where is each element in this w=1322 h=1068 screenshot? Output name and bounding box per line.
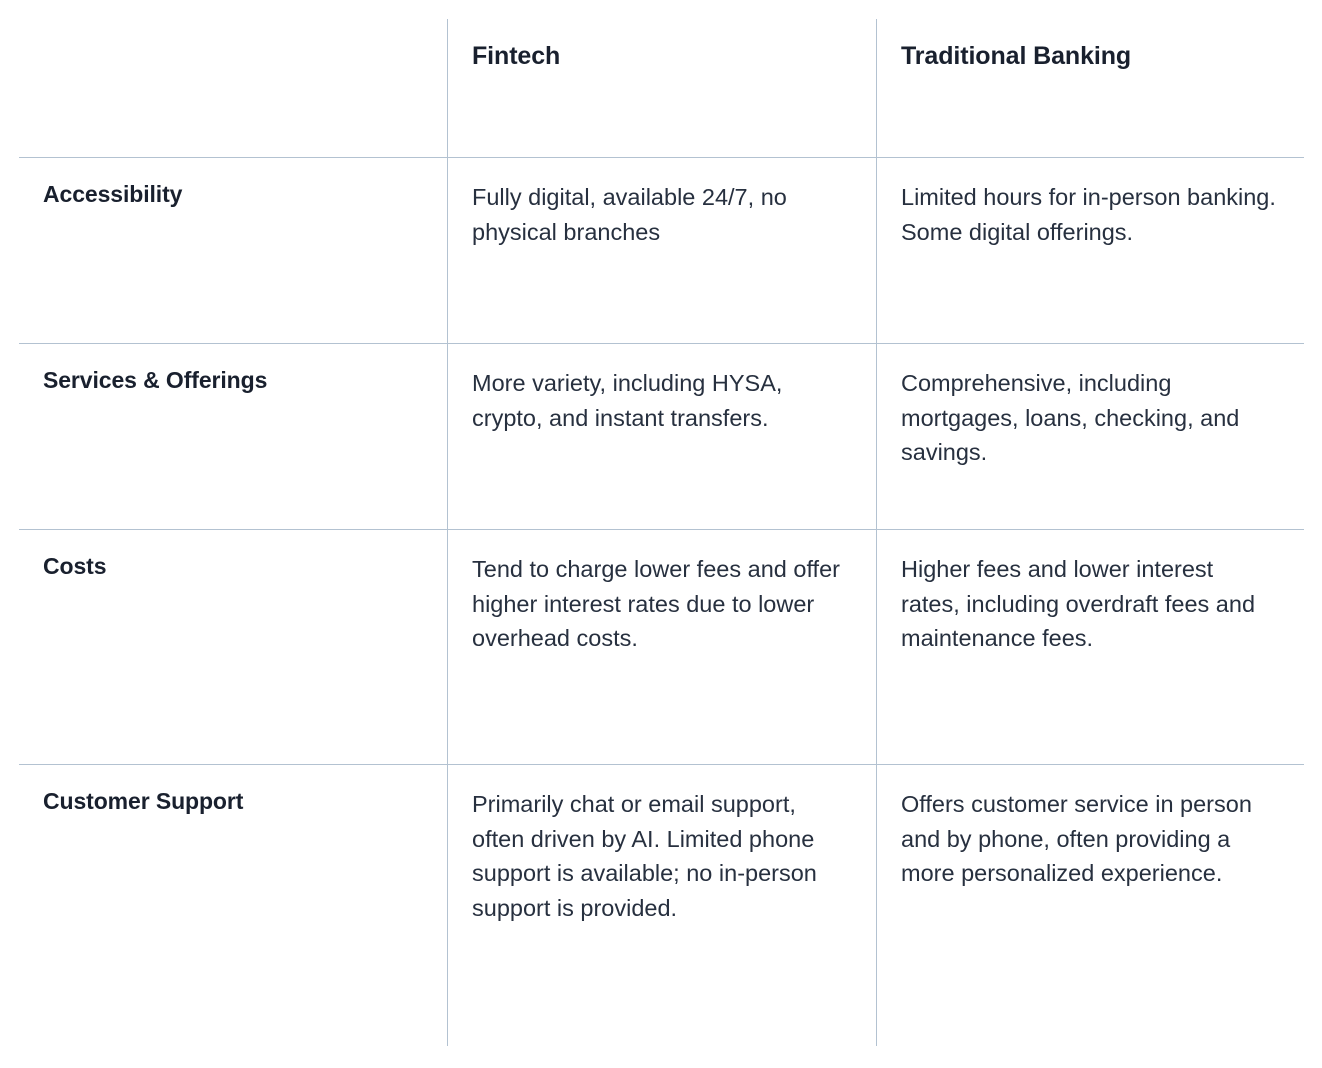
cell-text-services-fintech: More variety, including HYSA, crypto, an…: [472, 366, 850, 435]
comparison-table-container: Fintech Traditional Banking Accessibilit…: [18, 18, 1304, 1046]
cell-text-costs-fintech: Tend to charge lower fees and offer high…: [472, 552, 850, 656]
cell-text-accessibility-traditional: Limited hours for in-person banking. Som…: [901, 180, 1278, 249]
cell-services-traditional: Comprehensive, including mortgages, loan…: [877, 344, 1305, 530]
header-label-traditional-banking: Traditional Banking: [901, 41, 1278, 72]
cell-text-support-traditional: Offers customer service in person and by…: [901, 787, 1278, 891]
row-label-services-offerings: Services & Offerings: [43, 366, 421, 396]
table-header-row: Fintech Traditional Banking: [19, 19, 1305, 158]
cell-costs-traditional: Higher fees and lower interest rates, in…: [877, 530, 1305, 765]
header-label-fintech: Fintech: [472, 41, 850, 72]
cell-costs-fintech: Tend to charge lower fees and offer high…: [448, 530, 877, 765]
row-label-cell-costs: Costs: [19, 530, 448, 765]
cell-accessibility-fintech: Fully digital, available 24/7, no physic…: [448, 158, 877, 344]
table-row: Accessibility Fully digital, available 2…: [19, 158, 1305, 344]
table-row: Services & Offerings More variety, inclu…: [19, 344, 1305, 530]
row-label-cell-services-offerings: Services & Offerings: [19, 344, 448, 530]
cell-support-fintech: Primarily chat or email support, often d…: [448, 765, 877, 1047]
header-cell-empty: [19, 19, 448, 158]
row-label-customer-support: Customer Support: [43, 787, 421, 817]
fintech-vs-traditional-banking-table: Fintech Traditional Banking Accessibilit…: [18, 18, 1305, 1047]
row-label-cell-customer-support: Customer Support: [19, 765, 448, 1047]
cell-text-accessibility-fintech: Fully digital, available 24/7, no physic…: [472, 180, 850, 249]
cell-services-fintech: More variety, including HYSA, crypto, an…: [448, 344, 877, 530]
header-cell-traditional-banking: Traditional Banking: [877, 19, 1305, 158]
cell-text-services-traditional: Comprehensive, including mortgages, loan…: [901, 366, 1278, 470]
cell-text-costs-traditional: Higher fees and lower interest rates, in…: [901, 552, 1278, 656]
cell-text-support-fintech: Primarily chat or email support, often d…: [472, 787, 850, 925]
row-label-cell-accessibility: Accessibility: [19, 158, 448, 344]
cell-accessibility-traditional: Limited hours for in-person banking. Som…: [877, 158, 1305, 344]
table-row: Costs Tend to charge lower fees and offe…: [19, 530, 1305, 765]
header-cell-fintech: Fintech: [448, 19, 877, 158]
table-row: Customer Support Primarily chat or email…: [19, 765, 1305, 1047]
cell-support-traditional: Offers customer service in person and by…: [877, 765, 1305, 1047]
row-label-accessibility: Accessibility: [43, 180, 421, 210]
row-label-costs: Costs: [43, 552, 421, 582]
